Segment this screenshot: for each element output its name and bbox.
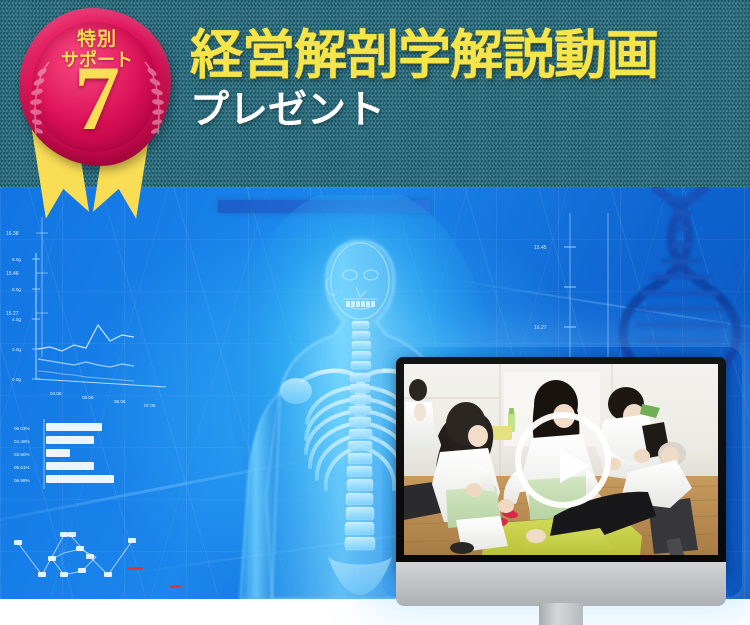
video-screen[interactable] — [404, 364, 718, 555]
title-block: 経営解剖学解説動画 プレゼント — [190, 26, 750, 134]
monitor-chin — [396, 562, 726, 606]
page-subtitle: プレゼント — [190, 88, 750, 134]
special-support-seal: 特別 サポート 7 — [8, 2, 186, 237]
desktop-monitor-icon — [396, 357, 750, 625]
monitor-stand-neck — [539, 603, 583, 625]
hud-marker — [127, 567, 143, 570]
play-button-icon[interactable] — [515, 412, 611, 508]
hud-marker — [170, 585, 181, 588]
page-title: 経営解剖学解説動画 — [190, 26, 750, 86]
promo-banner: 経営解剖学解説動画 プレゼント — [0, 0, 750, 625]
monitor-bezel — [396, 357, 726, 572]
play-triangle-icon — [560, 449, 590, 483]
seal-number: 7 — [8, 50, 186, 146]
